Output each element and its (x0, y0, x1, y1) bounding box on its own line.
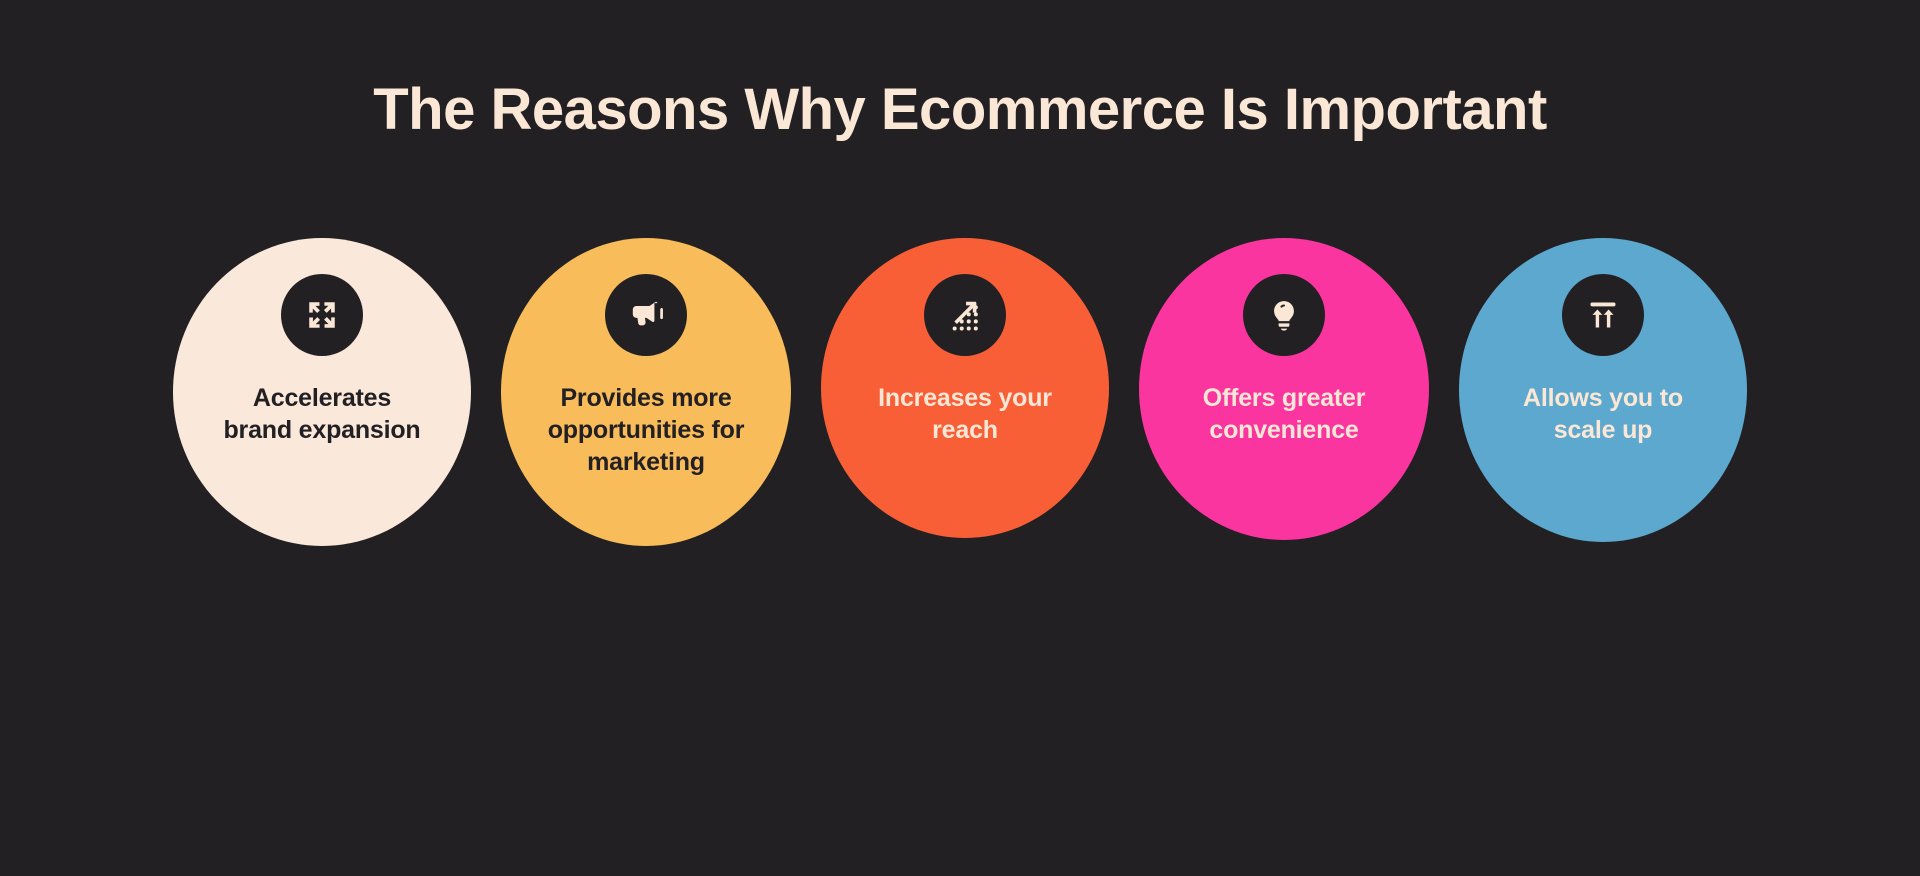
card-accelerates-brand-expansion[interactable]: Accelerates brand expansion (173, 238, 471, 546)
icon-badge (605, 274, 687, 356)
card-label-line-1: Provides more (518, 382, 773, 414)
icon-badge (1243, 274, 1325, 356)
card-allows-you-to-scale-up[interactable]: Allows you to scale up (1459, 238, 1747, 542)
card-label: Offers greater convenience (1156, 382, 1411, 446)
icon-badge (924, 274, 1006, 356)
card-label-line-2: convenience (1156, 414, 1411, 446)
card-label: Provides more opportunities for marketin… (518, 382, 773, 478)
icon-badge (1562, 274, 1644, 356)
card-label-line-1: Allows you to (1476, 382, 1729, 414)
card-label: Allows you to scale up (1476, 382, 1729, 446)
card-provides-more-opportunities-for-marketing[interactable]: Provides more opportunities for marketin… (501, 238, 791, 546)
arrows-up-to-bar-icon (1586, 298, 1620, 332)
megaphone-icon (628, 297, 664, 333)
growth-arrow-dots-icon (947, 297, 983, 333)
card-label-line-2: scale up (1476, 414, 1729, 446)
expand-arrows-icon (305, 298, 339, 332)
card-label-line-1: Accelerates (191, 382, 453, 414)
reasons-card-row: Accelerates brand expansion Provides mor… (0, 238, 1920, 668)
card-label: Accelerates brand expansion (191, 382, 453, 446)
infographic-canvas: The Reasons Why Ecommerce Is Important A… (0, 0, 1920, 876)
card-label-line-3: marketing (518, 446, 773, 478)
card-label-line-2: reach (838, 414, 1091, 446)
page-title: The Reasons Why Ecommerce Is Important (0, 78, 1920, 143)
card-increases-your-reach[interactable]: Increases your reach (821, 238, 1109, 538)
card-offers-greater-convenience[interactable]: Offers greater convenience (1139, 238, 1429, 540)
card-label: Increases your reach (838, 382, 1091, 446)
card-label-line-2: brand expansion (191, 414, 453, 446)
card-label-line-2: opportunities for (518, 414, 773, 446)
card-label-line-1: Increases your (838, 382, 1091, 414)
card-label-line-1: Offers greater (1156, 382, 1411, 414)
lightbulb-icon (1267, 298, 1301, 332)
icon-badge (281, 274, 363, 356)
